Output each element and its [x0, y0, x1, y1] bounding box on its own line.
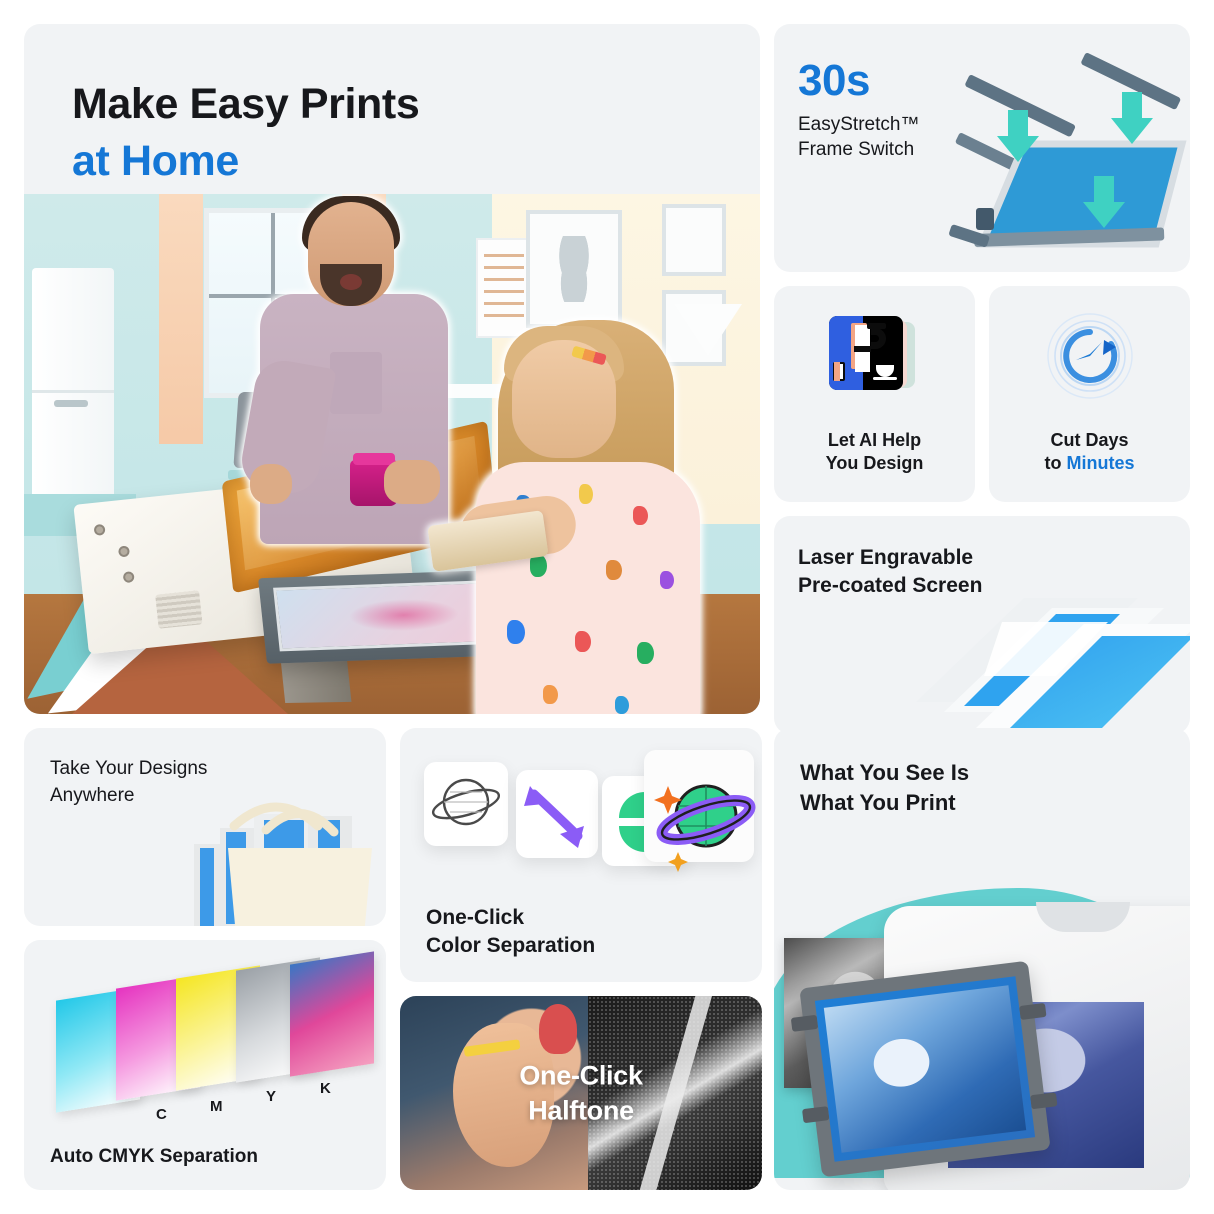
dress-motif — [575, 631, 591, 652]
screen-exposed-image — [824, 985, 1026, 1153]
screen-mesh — [815, 976, 1035, 1161]
girl-figure — [454, 312, 704, 714]
color-separation-title: One-Click Color Separation — [426, 904, 595, 960]
ai-label-line2: You Design — [774, 452, 975, 476]
wysiwyg-title: What You See Is What You Print — [800, 758, 969, 819]
leaf-icon — [551, 236, 597, 302]
moka-band — [854, 346, 872, 353]
wysiwyg-title-line1: What You See Is — [800, 758, 969, 788]
ai-design-label: Let AI Help You Design — [774, 429, 975, 477]
frame-clamp — [802, 1106, 830, 1123]
cmyk-title: Auto CMYK Separation — [50, 1146, 258, 1168]
fridge-handle — [54, 400, 88, 407]
dress-motif — [507, 620, 525, 644]
frame-switch-sub-line2: Frame Switch — [798, 137, 919, 162]
man-mouth — [340, 274, 362, 290]
planet-final-icon — [644, 750, 754, 862]
frame-switch-subtitle: EasyStretch™ Frame Switch — [798, 112, 919, 162]
dress-motif — [543, 685, 558, 704]
man-right-hand — [384, 460, 440, 504]
frame-switch-headline: 30s — [798, 56, 870, 106]
printer-knob-2 — [118, 545, 130, 557]
halftone-title-line2: Halftone — [400, 1093, 762, 1128]
frame-switch-card: 30s EasyStretch™ Frame Switch — [774, 24, 1190, 272]
man-shirt-pocket — [330, 352, 382, 414]
cmyk-plate-composite — [290, 951, 374, 1076]
cut-days-prefix: to — [1044, 453, 1066, 473]
ai-label-line1: Let AI Help — [774, 429, 975, 453]
printer-knob-1 — [94, 524, 106, 536]
man-left-hand — [250, 464, 292, 504]
cut-days-card: Cut Days to Minutes — [989, 286, 1190, 502]
tote-card: Take Your Designs Anywhere — [24, 728, 386, 926]
screen-printing-frame — [799, 961, 1050, 1178]
hero-illustration — [24, 194, 760, 714]
wall-frame-1 — [526, 210, 622, 328]
man-figure — [254, 202, 454, 602]
printer-knob-3 — [123, 571, 135, 583]
dress-motif — [633, 506, 648, 525]
wall-frame-2 — [662, 204, 726, 276]
dress-motif — [606, 560, 622, 580]
sep-title-line1: One-Click — [426, 904, 595, 932]
ai-design-card: Let AI Help You Design — [774, 286, 975, 502]
saucer-icon — [873, 377, 897, 381]
dress-motif — [660, 571, 674, 589]
moka-pot-artwork-icon — [829, 316, 913, 400]
laser-screen-card: Laser Engravable Pre-coated Screen — [774, 516, 1190, 734]
dress-motif — [615, 696, 629, 714]
cut-days-line2: to Minutes — [989, 452, 1190, 476]
cut-days-line1: Cut Days — [989, 429, 1190, 453]
planet-outline-icon — [424, 762, 508, 846]
tote-bag-illustration — [176, 786, 376, 926]
wysiwyg-card: What You See Is What You Print — [774, 728, 1190, 1190]
red-headphone — [539, 1004, 577, 1054]
moka-handle — [871, 328, 886, 349]
cmyk-letter: Y — [266, 1088, 276, 1105]
hero-title-line2: at Home — [72, 133, 419, 190]
color-separation-card: One-Click Color Separation — [400, 728, 762, 982]
cmyk-plates: C M Y K — [38, 958, 378, 1126]
cmyk-letter: M — [210, 1098, 223, 1115]
page-title: Make Easy Prints at Home — [72, 76, 419, 190]
mug-stripe — [834, 362, 839, 381]
clock-arrow-icon — [1046, 312, 1134, 400]
tote-title-line1: Take Your Designs — [50, 756, 207, 783]
cut-days-label: Cut Days to Minutes — [989, 429, 1190, 477]
cmyk-card: C M Y K Auto CMYK Separation — [24, 940, 386, 1190]
halftone-card: One-Click Halftone — [400, 996, 762, 1190]
tshirt-collar — [1036, 902, 1130, 932]
sep-title-line2: Color Separation — [426, 932, 595, 960]
card-grid: Make Easy Prints at Home — [24, 24, 1190, 1190]
hero-card: Make Easy Prints at Home — [24, 24, 760, 714]
frame-switch-sub-line1: EasyStretch™ — [798, 112, 919, 137]
frame-clamp — [791, 1015, 819, 1032]
cmyk-letter: C — [156, 1106, 167, 1123]
curtain-left — [159, 194, 203, 444]
cmyk-letter: K — [320, 1080, 331, 1097]
precoated-screens-illustration — [906, 556, 1190, 734]
infographic-page: Make Easy Prints at Home — [0, 0, 1214, 1214]
halftone-title: One-Click Halftone — [400, 1058, 762, 1127]
cut-days-accent: Minutes — [1066, 453, 1134, 473]
dress-motif — [579, 484, 593, 504]
dress-motif — [637, 642, 654, 664]
cup-icon — [876, 365, 894, 377]
fridge-icon — [32, 268, 114, 503]
stretch-frame-illustration — [946, 48, 1190, 268]
hero-title-line1: Make Easy Prints — [72, 76, 419, 133]
halftone-title-line1: One-Click — [400, 1058, 762, 1093]
wysiwyg-title-line2: What You Print — [800, 788, 969, 818]
moka-artwork — [829, 316, 903, 390]
printer-vent — [155, 590, 202, 628]
rotate-arrow-icon — [516, 770, 598, 858]
